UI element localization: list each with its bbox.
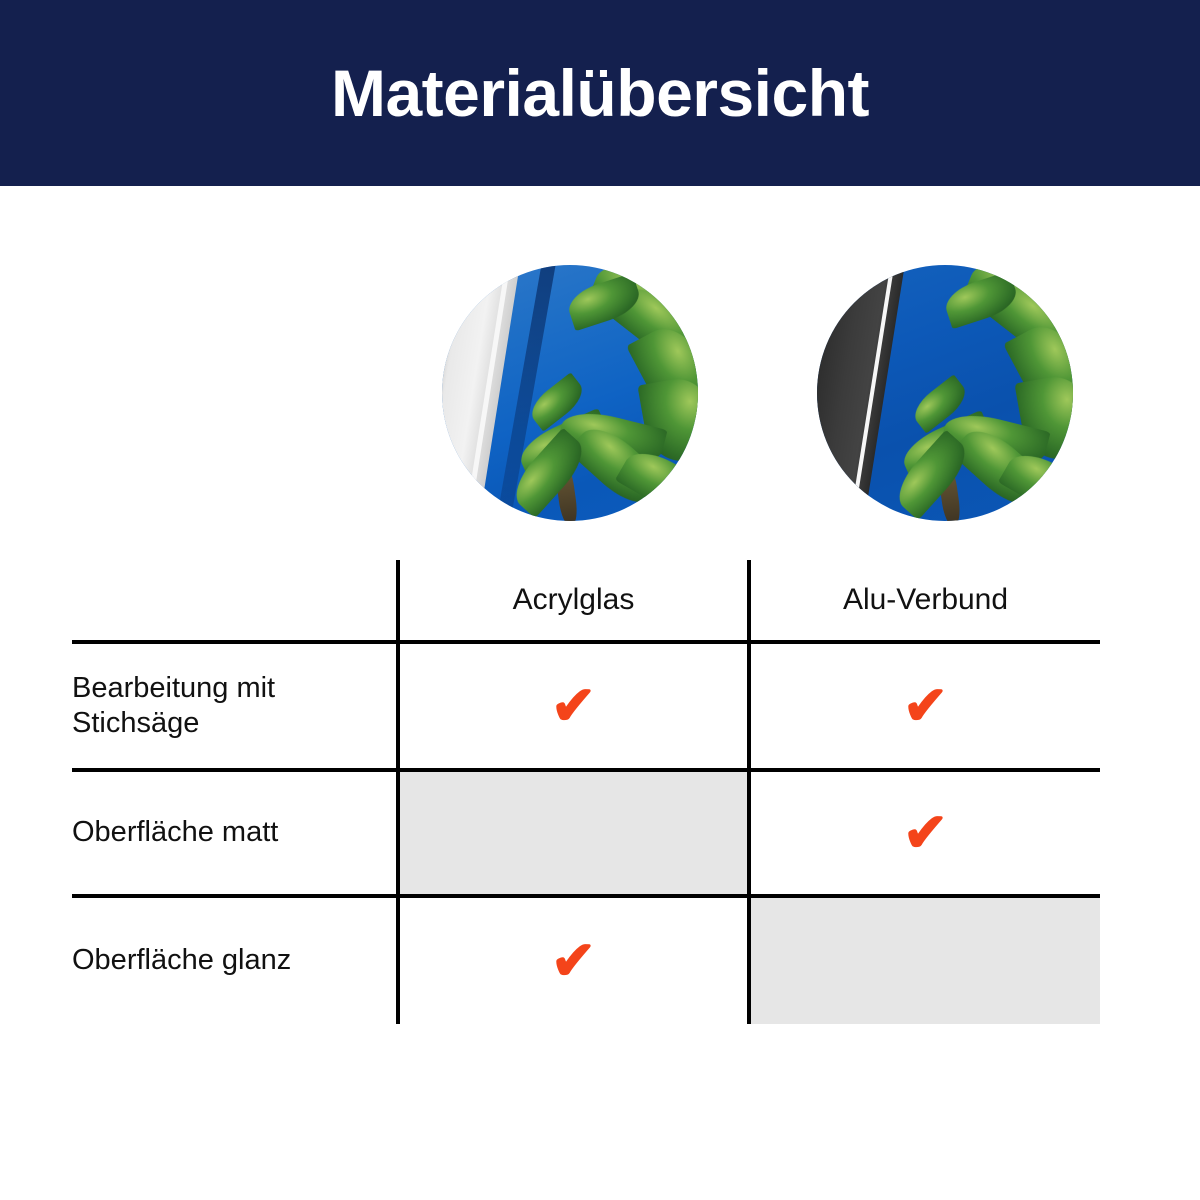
- check-icon: ✔: [903, 806, 948, 860]
- row-label-oberflaeche-glanz: Oberfläche glanz: [72, 896, 398, 1024]
- table-row: Oberfläche matt ✔ ✔: [72, 770, 1100, 896]
- table-header-row: Acrylglas Alu-Verbund: [72, 560, 1100, 642]
- table-row: Oberfläche glanz ✔ ✔: [72, 896, 1100, 1024]
- row-label-line-1: Bearbeitung mit: [72, 671, 396, 706]
- material-comparison-table: Acrylglas Alu-Verbund Bearbeitung mit St…: [72, 560, 1100, 1016]
- cell-bearbeitung-acrylglas: ✔: [398, 642, 749, 770]
- cell-glanz-acrylglas: ✔: [398, 896, 749, 1024]
- cell-glanz-alu-verbund: ✔: [749, 896, 1100, 1024]
- cell-matt-alu-verbund: ✔: [749, 770, 1100, 896]
- check-icon: ✔: [551, 679, 596, 733]
- material-thumbnails: [0, 265, 1200, 525]
- header-banner: Materialübersicht: [0, 0, 1200, 186]
- acrylglas-sample-image: [442, 265, 698, 521]
- row-label-line-2: Stichsäge: [72, 706, 396, 741]
- header-blank-cell: [72, 560, 398, 642]
- column-header-alu-verbund: Alu-Verbund: [749, 560, 1100, 642]
- cell-bearbeitung-alu-verbund: ✔: [749, 642, 1100, 770]
- palm-tree-artwork-gloss: [442, 265, 698, 521]
- row-label-oberflaeche-matt: Oberfläche matt: [72, 770, 398, 896]
- check-icon: ✔: [903, 679, 948, 733]
- page-title: Materialübersicht: [331, 60, 869, 126]
- column-header-acrylglas: Acrylglas: [398, 560, 749, 642]
- table-row: Bearbeitung mit Stichsäge ✔ ✔: [72, 642, 1100, 770]
- cell-matt-acrylglas: ✔: [398, 770, 749, 896]
- check-icon: ✔: [551, 934, 596, 988]
- palm-tree-artwork-matt: [817, 265, 1073, 521]
- row-label-bearbeitung-stichsaege: Bearbeitung mit Stichsäge: [72, 642, 398, 770]
- alu-verbund-sample-image: [817, 265, 1073, 521]
